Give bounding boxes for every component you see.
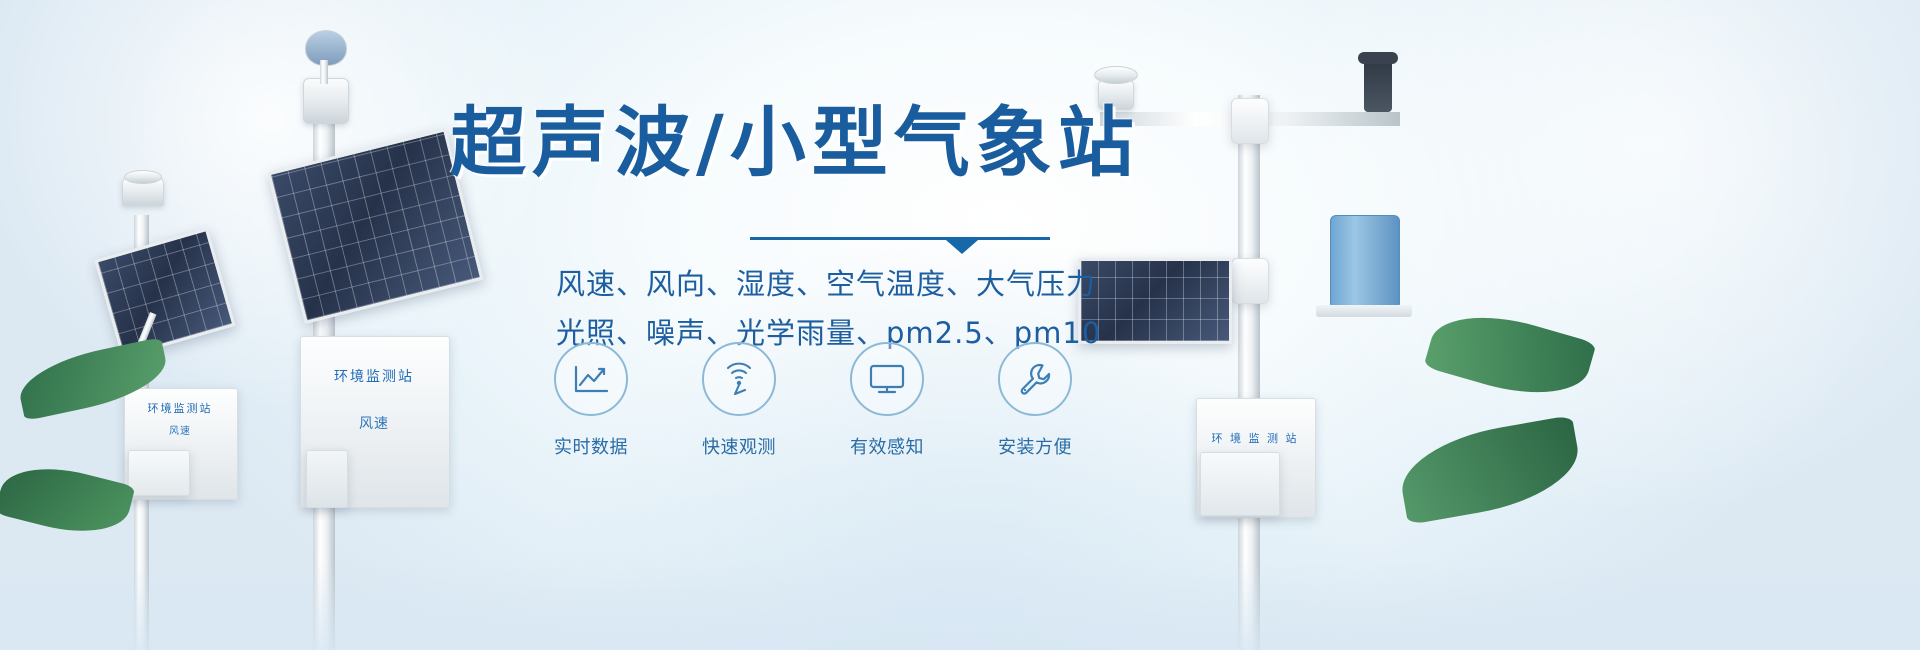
right-rain-gauge-icon xyxy=(1330,215,1400,309)
feature-label: 安装方便 xyxy=(998,433,1072,459)
feature-item-fast-observation[interactable]: 快速观测 xyxy=(696,342,782,459)
leaf-right-icon xyxy=(1423,299,1596,410)
feature-label: 快速观测 xyxy=(702,433,776,459)
bottom-gradient xyxy=(0,560,1920,650)
right-cabinet-label: 环 境 监 测 站 xyxy=(1196,430,1314,446)
center-cabinet-label: 环境监测站 xyxy=(300,366,448,386)
center-sensor-stem xyxy=(320,60,328,84)
divider-bar xyxy=(750,237,1050,240)
right-crossarm-clamp xyxy=(1231,98,1269,144)
subtitle-line-1: 风速、风向、湿度、空气温度、大气压力 xyxy=(556,261,1070,308)
center-ultrasonic-sensor-icon xyxy=(303,78,349,124)
left-sensor-cap-icon xyxy=(124,170,162,184)
feature-item-effective-sensing[interactable]: 有效感知 xyxy=(844,342,930,459)
feature-label: 实时数据 xyxy=(554,433,628,459)
left-cabinet-label: 环境监测站 xyxy=(124,400,236,416)
right-mast xyxy=(1238,95,1260,650)
wrench-icon xyxy=(998,342,1072,416)
banner-copy: 超声波/小型气象站 风速、风向、湿度、空气温度、大气压力 光照、噪声、光学雨量、… xyxy=(450,105,1070,357)
feature-item-realtime-data[interactable]: 实时数据 xyxy=(548,342,634,459)
right-cabinet-lower xyxy=(1200,452,1280,516)
monitor-screen-icon xyxy=(850,342,924,416)
left-cabinet-brand: 风速 xyxy=(124,422,236,437)
feature-list: 实时数据 快速观测 有效感知 xyxy=(548,342,1078,459)
radar-signal-icon xyxy=(702,342,776,416)
right-solar-panel xyxy=(1078,258,1232,344)
right-wind-vane-icon xyxy=(1364,58,1392,112)
leaf-right-lower-icon xyxy=(1394,415,1585,525)
line-chart-icon xyxy=(554,342,628,416)
center-cabinet-lower xyxy=(306,450,348,508)
left-solar-panel xyxy=(94,228,236,359)
feature-item-easy-install[interactable]: 安装方便 xyxy=(992,342,1078,459)
leaf-left-lower-icon xyxy=(0,455,135,545)
center-cabinet-brand: 风速 xyxy=(300,413,448,433)
feature-label: 有效感知 xyxy=(850,433,924,459)
right-rain-gauge-base xyxy=(1316,305,1412,317)
page-title: 超声波/小型气象站 xyxy=(450,105,1070,181)
right-sensor-disc-icon xyxy=(1094,66,1138,84)
title-divider xyxy=(750,233,1050,247)
right-mast-clamp xyxy=(1231,258,1269,304)
right-wind-cups-icon xyxy=(1358,52,1398,64)
product-banner: 环境监测站 风速 环境监测站 风速 环 境 监 测 站 xyxy=(0,0,1920,650)
left-cabinet-lower xyxy=(128,450,190,496)
divider-triangle-icon xyxy=(946,240,978,254)
